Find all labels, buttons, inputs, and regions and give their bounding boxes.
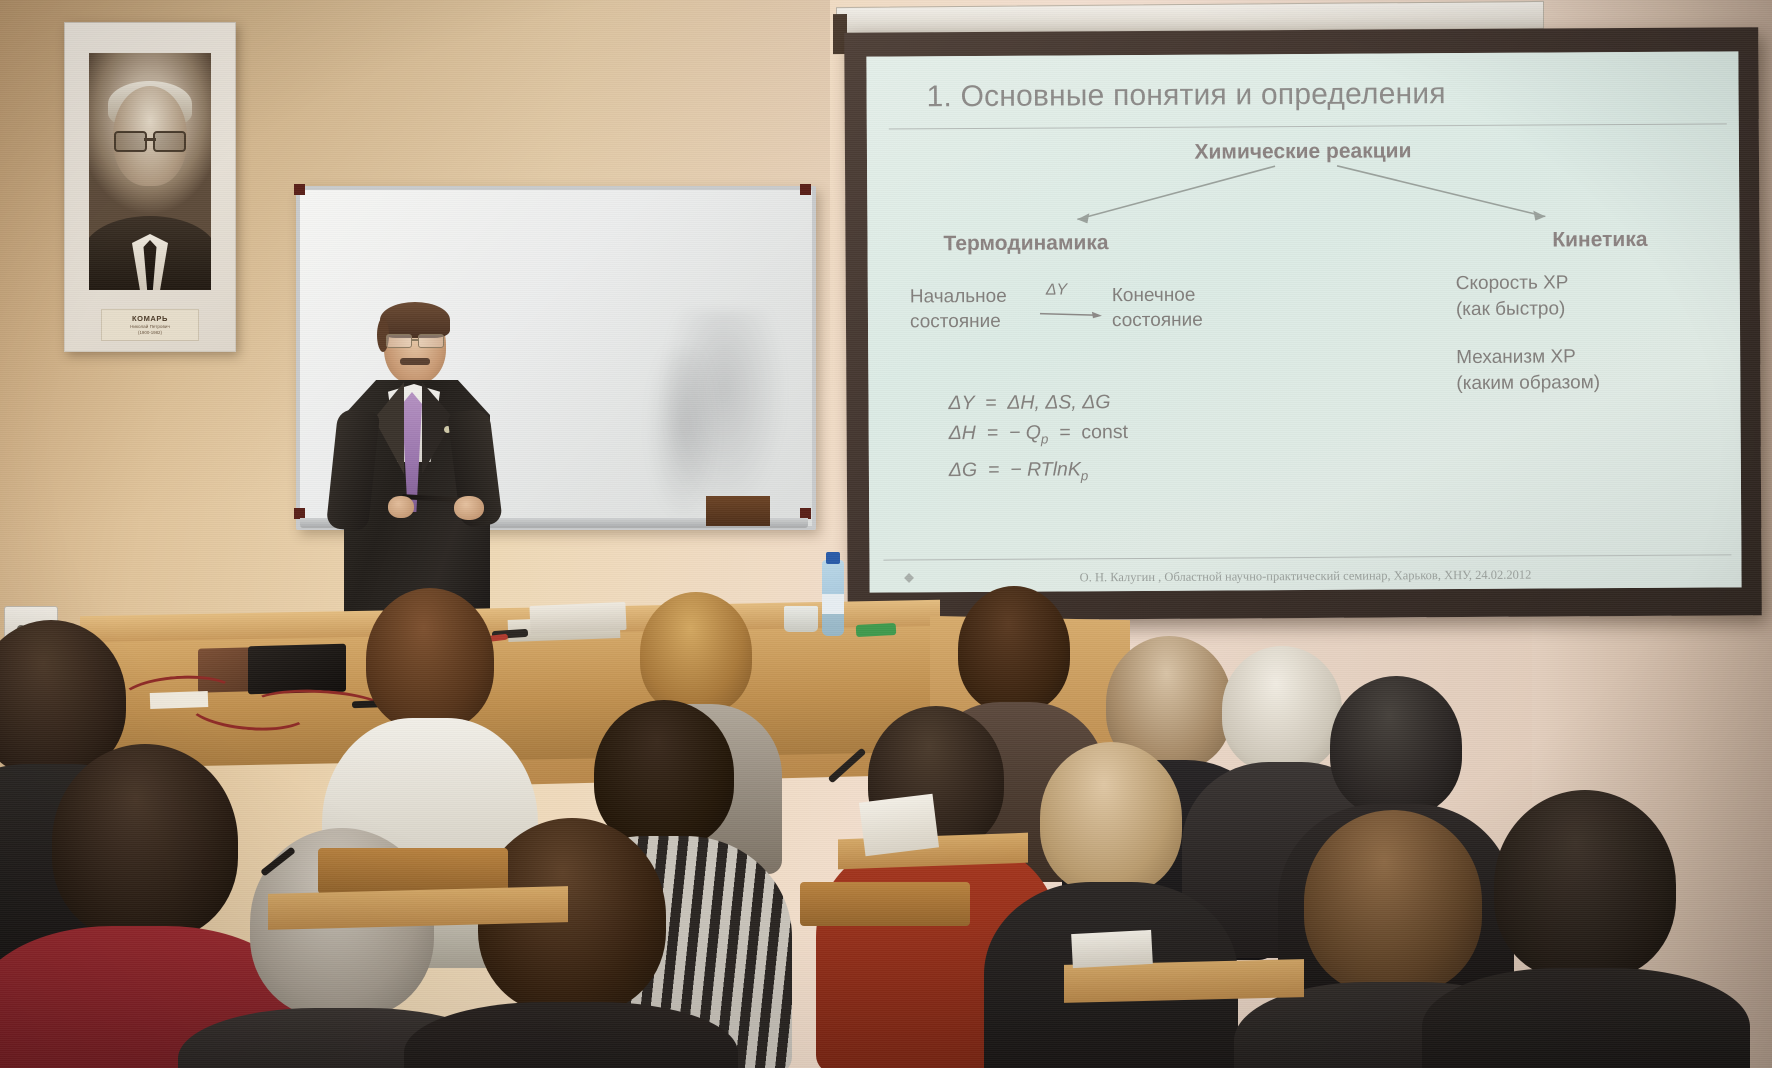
formula-3-mid: − RTlnK [1010,458,1081,480]
portrait-shoulders [89,216,211,290]
formula-line-1: ΔY = ΔH, ΔS, ΔG [948,387,1127,418]
formula-1-eq: = [985,392,997,414]
kinetics-speed-line2: (как быстро) [1456,295,1716,323]
delta-y-label: ΔY [1046,281,1068,299]
portrait-photo [89,53,211,290]
state-transition-block: Начальное состояние ΔY Конечное состояни… [906,282,1236,348]
whiteboard-corner [294,184,305,195]
formula-3-lhs: ΔG [949,459,977,481]
formula-line-2: ΔH = − Qp = const [949,417,1129,455]
wooden-box [706,496,770,526]
paper-sheet [150,691,209,709]
lecture-hall-photo: КОМАРЬ Николай Петрович (1900-1982) 1. О… [0,0,1772,1068]
branch-thermodynamics: Термодинамика [943,231,1108,256]
initial-state-line1: Начальное [910,286,1007,308]
glasses-icon [114,131,186,148]
presentation-slide: 1. Основные понятия и определения Химиче… [866,51,1741,592]
plastic-cup [784,606,818,632]
presenter-hand-right [454,496,484,520]
kinetics-item-mechanism: Механизм ХР (каким образом) [1456,343,1716,397]
notepaper [1071,930,1153,968]
green-object [856,623,897,637]
bottle-cap [826,552,840,564]
formula-2-eq2: = [1059,421,1071,443]
portrait-years: (1900-1982) [104,330,196,335]
portrait-fullname: Николай Петрович [104,324,196,329]
chair-back [800,882,970,926]
final-state-line2: состояние [1112,310,1203,332]
kinetics-speed-line1: Скорость ХР [1456,269,1716,297]
projection-screen-frame: 1. Основные понятия и определения Химиче… [844,27,1762,621]
notepaper [859,794,939,857]
presenter-hand-left [388,496,414,518]
formula-2-mid: − Q [1009,422,1041,444]
formula-3-sub: p [1081,468,1088,483]
slide-title-rule [889,123,1727,129]
notebook [529,602,626,634]
formula-2-lhs: ΔH [949,422,976,444]
presenter-moustache [400,358,430,365]
branch-arrows [867,159,1739,230]
portrait-label: КОМАРЬ Николай Петрович (1900-1982) [101,309,199,342]
projection-screen-surface: 1. Основные понятия и определения Химиче… [866,51,1741,592]
final-state: Конечное состояние [1112,283,1203,334]
transition-arrow [1040,309,1106,319]
final-state-line1: Конечное [1112,285,1196,307]
formula-2-eq: = [987,422,999,444]
whiteboard-corner [800,184,811,195]
slide-footer: О. Н. Калугин , Областной научно-практич… [870,566,1742,586]
kinetics-column: Скорость ХР (как быстро) Механизм ХР (ка… [1456,269,1717,419]
initial-state: Начальное состояние [910,284,1007,335]
formula-1-rhs: ΔH, ΔS, ΔG [1007,391,1110,414]
kinetics-mechanism-line2: (каким образом) [1456,369,1716,397]
formula-line-3: ΔG = − RTlnKp [949,454,1129,492]
slide-title: 1. Основные понятия и определения [927,75,1713,114]
formula-2-sub: p [1041,431,1048,446]
portrait-surname: КОМАРЬ [104,314,196,323]
kinetics-mechanism-line1: Механизм ХР [1456,343,1716,371]
presenter-glasses-icon [386,334,444,346]
branch-kinetics: Кинетика [1552,228,1647,253]
formula-3-eq: = [988,459,1000,481]
chair-back [318,848,508,894]
bottle-label [822,594,844,614]
presenter-hair [380,302,450,338]
whiteboard-shadow-2 [648,350,718,520]
formula-1-lhs: ΔY [948,392,974,414]
thermodynamics-formulas: ΔY = ΔH, ΔS, ΔG ΔH = − Qp = const ΔG = [948,387,1128,492]
wall-portrait-plaque: КОМАРЬ Николай Петрович (1900-1982) [64,22,236,352]
formula-2-rhs: const [1081,421,1128,443]
presenter [326,300,516,630]
slide-footer-rule [883,554,1731,560]
initial-state-line2: состояние [910,311,1001,333]
kinetics-item-speed: Скорость ХР (как быстро) [1456,269,1716,323]
